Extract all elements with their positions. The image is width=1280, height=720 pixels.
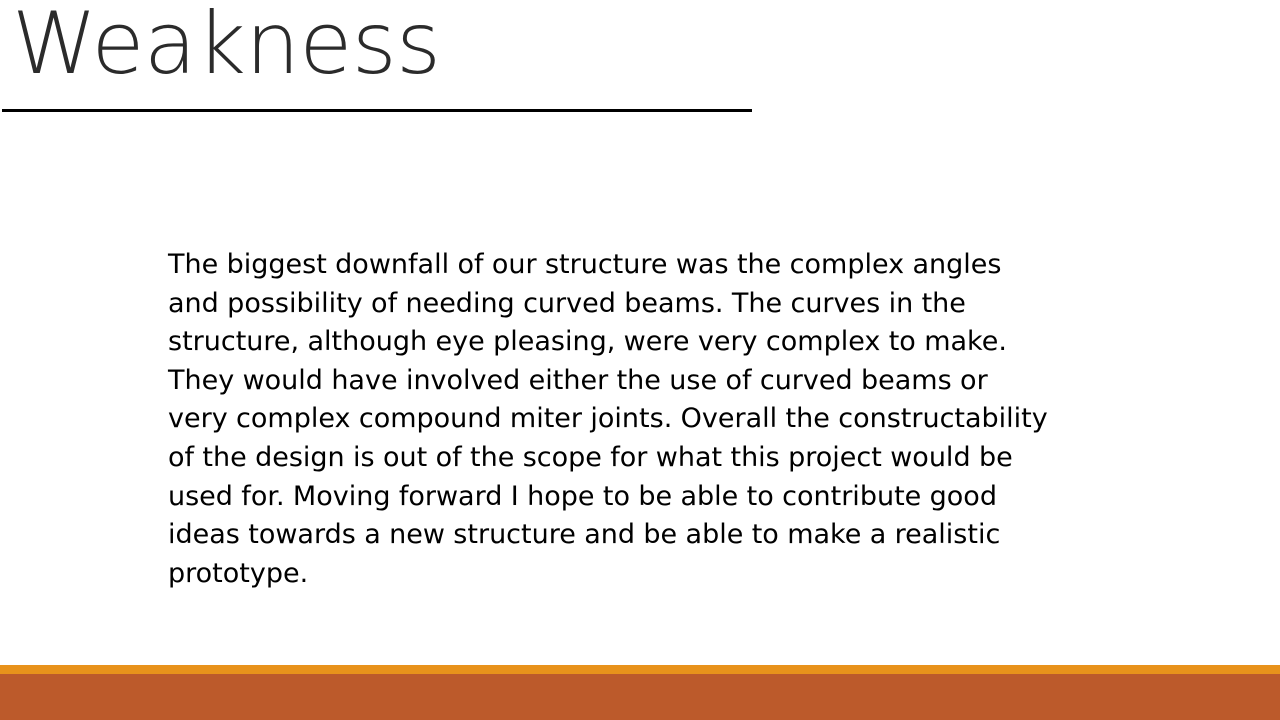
footer-accent-bar	[0, 665, 1280, 674]
page-title: Weakness	[8, 0, 768, 96]
footer-main-bar	[0, 674, 1280, 720]
slide-canvas: Weakness The biggest downfall of our str…	[0, 0, 1280, 720]
body-paragraph: The biggest downfall of our structure wa…	[168, 246, 1048, 593]
title-underline-rule	[2, 109, 752, 112]
body-content-block: The biggest downfall of our structure wa…	[168, 246, 1048, 593]
title-block: Weakness	[8, 0, 768, 104]
